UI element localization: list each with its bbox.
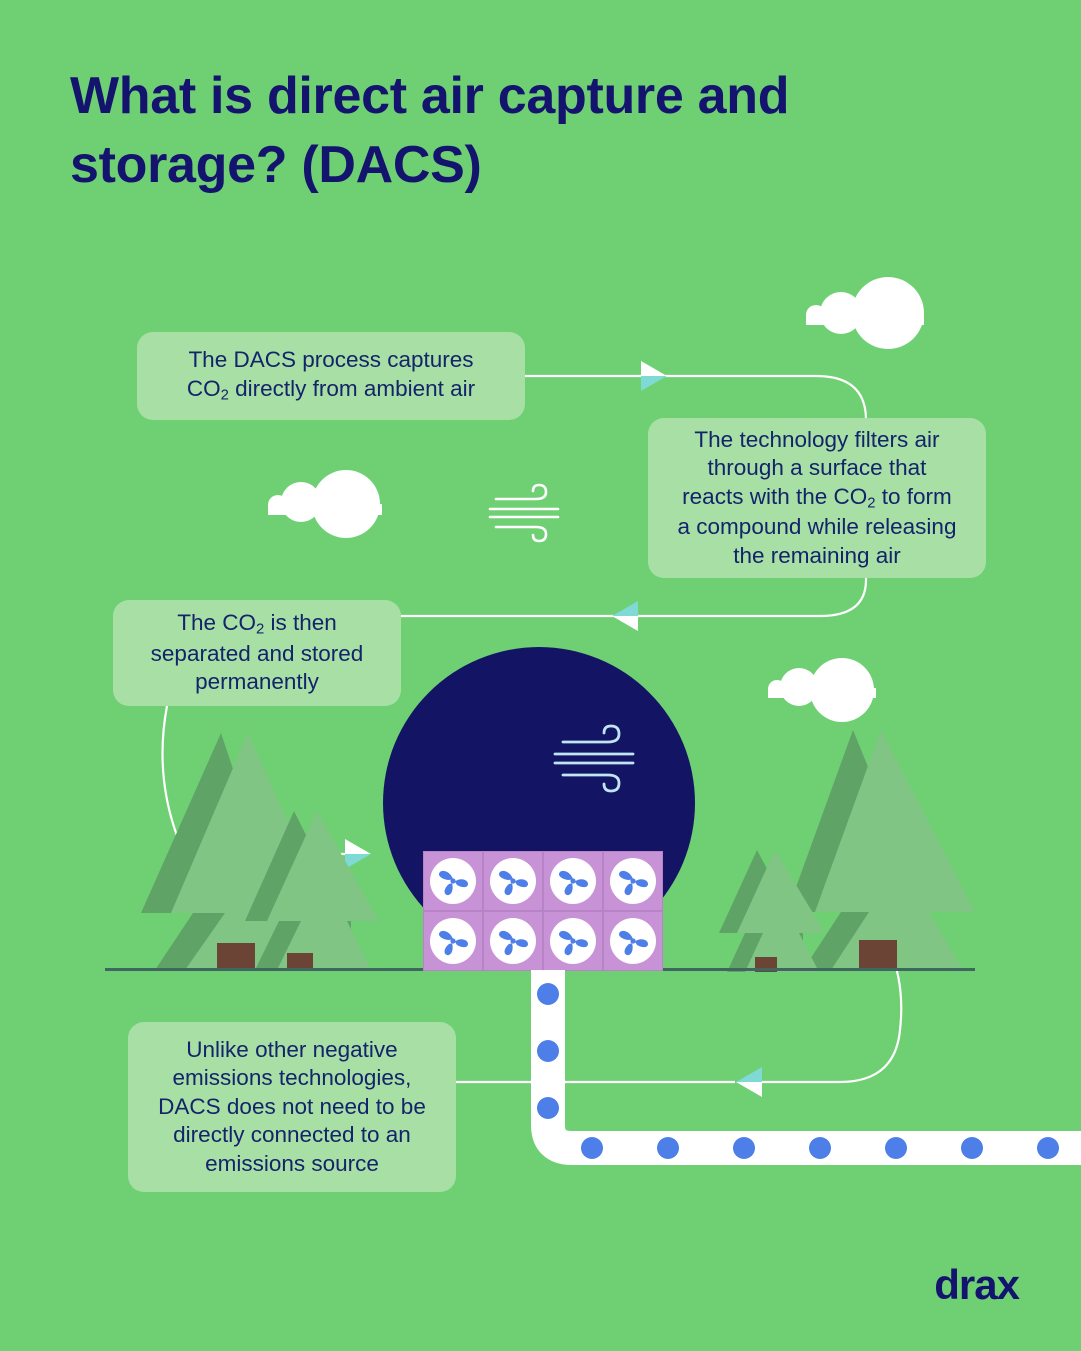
callout-box-not-connected: Unlike other negativeemissions technolog…: [128, 1022, 456, 1192]
pipeline-dot: [733, 1137, 755, 1159]
infographic-canvas: What is direct air capture and storage? …: [0, 0, 1081, 1351]
pipeline-dot: [537, 1040, 559, 1062]
pipeline-dot: [537, 983, 559, 1005]
pipeline-dot: [1037, 1137, 1059, 1159]
pipeline-dot: [581, 1137, 603, 1159]
pipeline-dot: [961, 1137, 983, 1159]
callout-text: The technology filters airthrough a surf…: [678, 426, 957, 571]
callout-text: The CO2 is thenseparated and storedperma…: [151, 609, 364, 697]
callout-box-co2-separated: The CO2 is thenseparated and storedperma…: [113, 600, 401, 706]
callout-box-technology-filters: The technology filters airthrough a surf…: [648, 418, 986, 578]
pipeline-dot: [537, 1097, 559, 1119]
pipeline-dot: [885, 1137, 907, 1159]
drax-logo: drax: [934, 1261, 1019, 1309]
pipeline-dot: [657, 1137, 679, 1159]
callout-text: The DACS process capturesCO2 directly fr…: [187, 346, 475, 405]
callout-text: Unlike other negativeemissions technolog…: [158, 1036, 426, 1179]
callout-box-dacs-process: The DACS process capturesCO2 directly fr…: [137, 332, 525, 420]
pipeline-dot: [809, 1137, 831, 1159]
